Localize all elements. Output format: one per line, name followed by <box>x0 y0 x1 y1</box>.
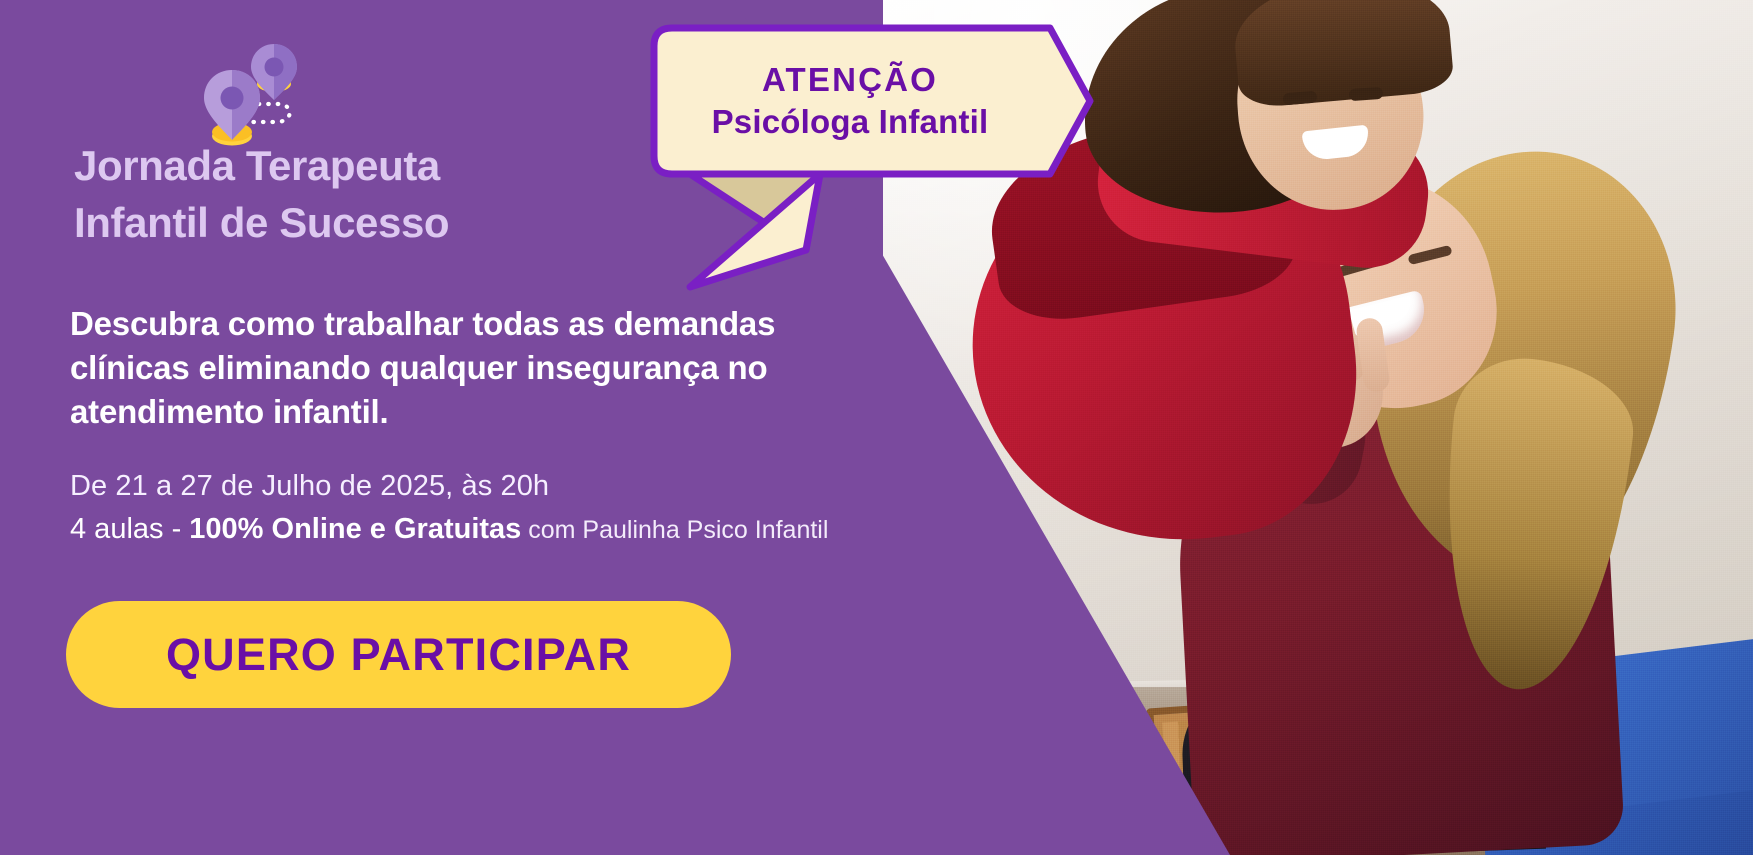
event-date: De 21 a 27 de Julho de 2025, às 20h <box>70 470 549 503</box>
quero-participar-button[interactable]: QUERO PARTICIPAR <box>66 601 731 708</box>
map-pins-journey-icon <box>202 42 322 147</box>
class-count: 4 aulas - <box>70 513 189 545</box>
class-presenter: com Paulinha Psico Infantil <box>521 516 828 544</box>
child-eye-right <box>1349 87 1384 101</box>
page-title-line1: Jornada Terapeuta <box>74 142 440 189</box>
class-info: 4 aulas - 100% Online e Gratuitas com Pa… <box>70 513 828 546</box>
page-title-line2: Infantil de Sucesso <box>74 199 449 246</box>
page-title: Jornada TerapeutaInfantil de Sucesso <box>74 138 694 251</box>
promo-banner: Jornada TerapeutaInfantil de Sucesso Des… <box>0 0 1753 855</box>
attention-callout: ATENÇÃO Psicóloga Infantil <box>630 22 1100 292</box>
description-text: Descubra como trabalhar todas as demanda… <box>70 302 810 434</box>
class-highlight: 100% Online e Gratuitas <box>189 513 521 545</box>
